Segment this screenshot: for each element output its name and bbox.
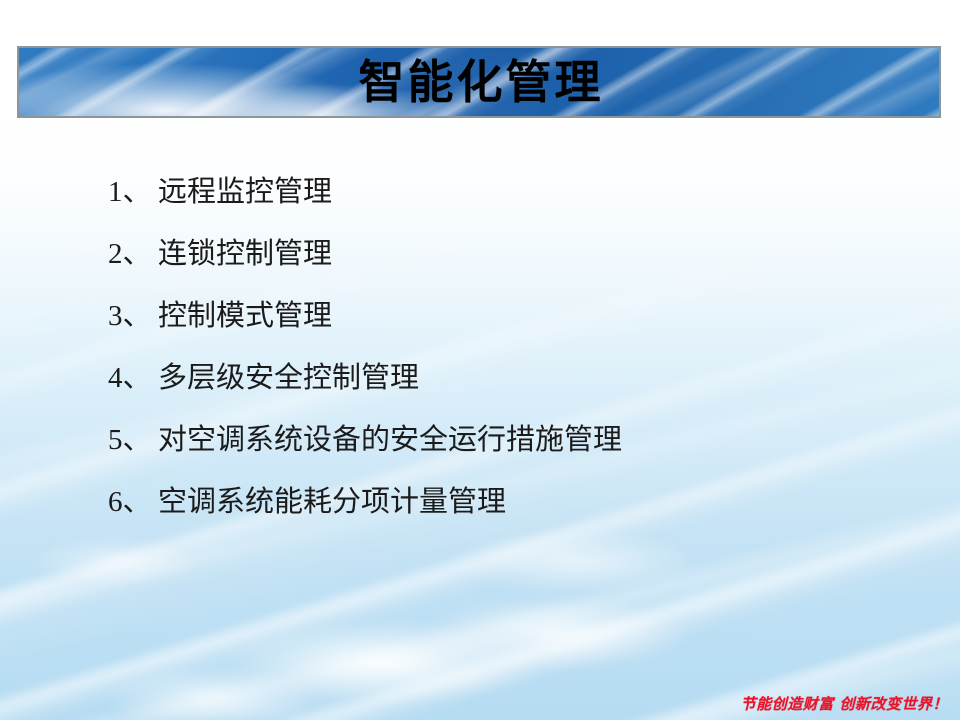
list-item-label: 远程监控管理 (158, 178, 332, 207)
list-item-label: 对空调系统设备的安全运行措施管理 (158, 426, 622, 455)
list-item: 5、 对空调系统设备的安全运行措施管理 (108, 409, 928, 471)
list-item-label: 多层级安全控制管理 (158, 364, 419, 393)
list-item-number: 6、 (108, 488, 158, 517)
list-item-label: 连锁控制管理 (158, 240, 332, 269)
list-item: 2、 连锁控制管理 (108, 223, 928, 285)
title-banner: 智能化管理 (17, 46, 941, 118)
list-item-label: 控制模式管理 (158, 302, 332, 331)
footer-slogan: 节能创造财富 创新改变世界！ (741, 693, 948, 714)
list-item-number: 5、 (108, 426, 158, 455)
list-item: 1、 远程监控管理 (108, 161, 928, 223)
list-item-number: 3、 (108, 302, 158, 331)
presentation-slide: 智能化管理 1、 远程监控管理 2、 连锁控制管理 3、 控制模式管理 4、 多… (0, 0, 960, 720)
bullet-list: 1、 远程监控管理 2、 连锁控制管理 3、 控制模式管理 4、 多层级安全控制… (108, 161, 928, 533)
list-item: 4、 多层级安全控制管理 (108, 347, 928, 409)
list-item-label: 空调系统能耗分项计量管理 (158, 488, 506, 517)
list-item-number: 1、 (108, 178, 158, 207)
list-item-number: 4、 (108, 364, 158, 393)
list-item-number: 2、 (108, 240, 158, 269)
page-title: 智能化管理 (359, 59, 604, 105)
list-item: 6、 空调系统能耗分项计量管理 (108, 471, 928, 533)
list-item: 3、 控制模式管理 (108, 285, 928, 347)
